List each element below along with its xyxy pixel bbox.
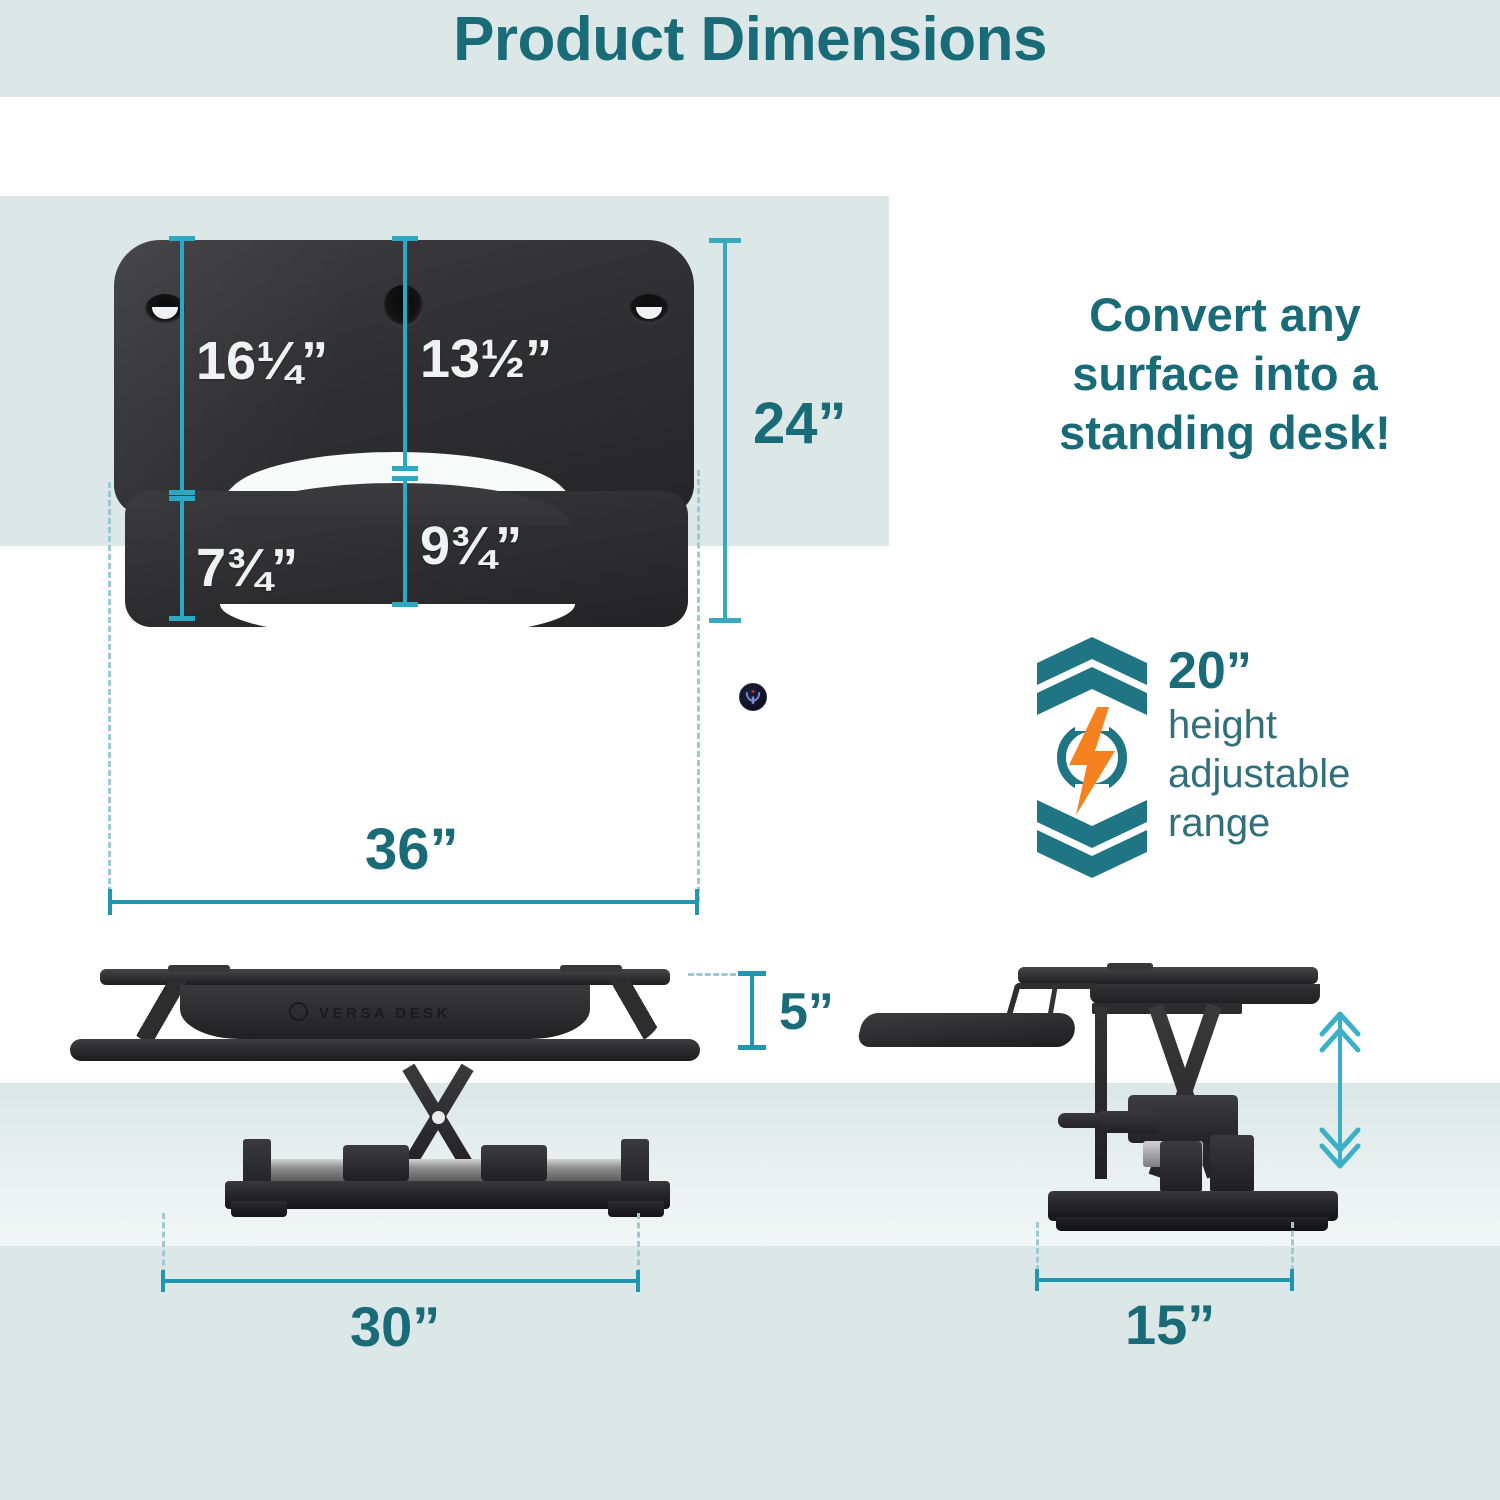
page-title: Product Dimensions [0, 4, 1500, 75]
height-adjust-sub-2: adjustable [1168, 750, 1428, 799]
side-base-foot [1056, 1217, 1328, 1231]
dim-line-5 [750, 971, 754, 1049]
ext-line-36-left [108, 482, 111, 902]
chevrons-up-down-lightning-icon [1035, 635, 1150, 880]
height-adjust-sub-1: height [1168, 701, 1428, 750]
dim-line-9 [403, 476, 407, 606]
dim-line-15 [1035, 1278, 1294, 1282]
keyboard-tray-bottom-dip [220, 604, 575, 638]
versadesk-y-icon [744, 688, 762, 707]
grommet-hole-right [629, 294, 669, 324]
tagline-block: Convert any surface into a standing desk… [1000, 285, 1450, 463]
front-base-block-right [481, 1145, 547, 1181]
front-base-block-left [343, 1145, 409, 1181]
dim-line-24 [723, 238, 727, 622]
dim-cap-36-right [695, 889, 699, 915]
desk-side-view-illustration [860, 955, 1330, 1245]
bottom-tint-band [0, 1246, 1500, 1500]
dim-label-base-width: 30” [350, 1294, 440, 1359]
dim-cap-30-right [636, 1270, 640, 1292]
front-brand-label: VERSA DESK [180, 1005, 590, 1022]
dim-line-13 [403, 236, 407, 468]
dim-line-7 [180, 496, 184, 620]
versadesk-logo-badge [739, 683, 767, 711]
ext-line-30-left [162, 1213, 165, 1275]
ext-line-5-top [688, 973, 736, 976]
dim-cap-7-bottom [169, 616, 195, 621]
ext-line-30-right [637, 1213, 640, 1275]
front-base-rail [255, 1159, 640, 1181]
desk-front-view-illustration: VERSA DESK [60, 955, 730, 1230]
dim-cap-13-bottom [392, 466, 418, 471]
travel-range-double-arrow-icon [1310, 1000, 1370, 1180]
height-adjust-icon [1035, 635, 1150, 880]
front-base-foot-left [231, 1201, 287, 1217]
front-base-assembly [225, 1139, 670, 1199]
dim-cap-9-bottom [392, 602, 418, 607]
side-top-tab [1107, 963, 1153, 970]
dim-cap-24-bottom [709, 618, 741, 623]
front-base-post-right [621, 1139, 649, 1185]
front-support-arm-left [122, 979, 186, 1045]
height-adjust-sub-3: range [1168, 799, 1428, 848]
side-column-right [1210, 1135, 1254, 1193]
dim-line-16 [180, 236, 184, 492]
side-column-left [1160, 1141, 1202, 1193]
ext-line-36-right [697, 470, 700, 902]
dim-line-30 [161, 1279, 640, 1283]
dim-label-collapsed-height: 5” [779, 982, 834, 1042]
height-adjust-value: 20” [1168, 645, 1428, 697]
grommet-hole-left [145, 294, 185, 324]
side-desktop-panel [1018, 967, 1318, 984]
dim-label-overall-depth: 24” [753, 390, 847, 457]
tagline-line-3: standing desk! [1000, 403, 1450, 462]
dim-label-tray-left-depth: 7¾” [196, 537, 298, 599]
dim-cap-15-right [1290, 1269, 1294, 1291]
front-top-tab-left [168, 965, 230, 972]
dim-label-desktop-left-depth: 16¼” [196, 330, 328, 392]
dim-line-36 [108, 900, 699, 904]
height-adjust-label-block: 20” height adjustable range [1168, 645, 1428, 849]
front-base-post-left [243, 1139, 271, 1185]
scissor-pivot [432, 1111, 445, 1124]
front-base-foot-right [608, 1201, 664, 1217]
front-base-plate [225, 1181, 670, 1209]
dim-label-desktop-right-depth: 13½” [420, 328, 552, 390]
infographic-canvas: Product Dimensions Convert any surface i… [0, 0, 1500, 1500]
tagline-line-2: surface into a [1000, 344, 1450, 403]
side-keyboard-tray [856, 1013, 1079, 1047]
tagline-line-1: Convert any [1000, 285, 1450, 344]
front-top-tab-right [560, 965, 622, 972]
dim-label-tray-right-depth: 9¾” [420, 515, 522, 577]
dim-cap-16-bottom [169, 490, 195, 495]
front-riser-body: VERSA DESK [180, 985, 590, 1039]
dim-label-base-depth: 15” [1125, 1292, 1215, 1357]
front-support-arm-right [600, 979, 664, 1045]
dim-label-overall-width: 36” [365, 816, 459, 883]
dim-cap-5-bottom [738, 1045, 766, 1050]
side-scissor-vertical [1095, 1007, 1107, 1179]
side-motor-bracket [1098, 1111, 1158, 1133]
front-keyboard-tray [70, 1039, 700, 1061]
